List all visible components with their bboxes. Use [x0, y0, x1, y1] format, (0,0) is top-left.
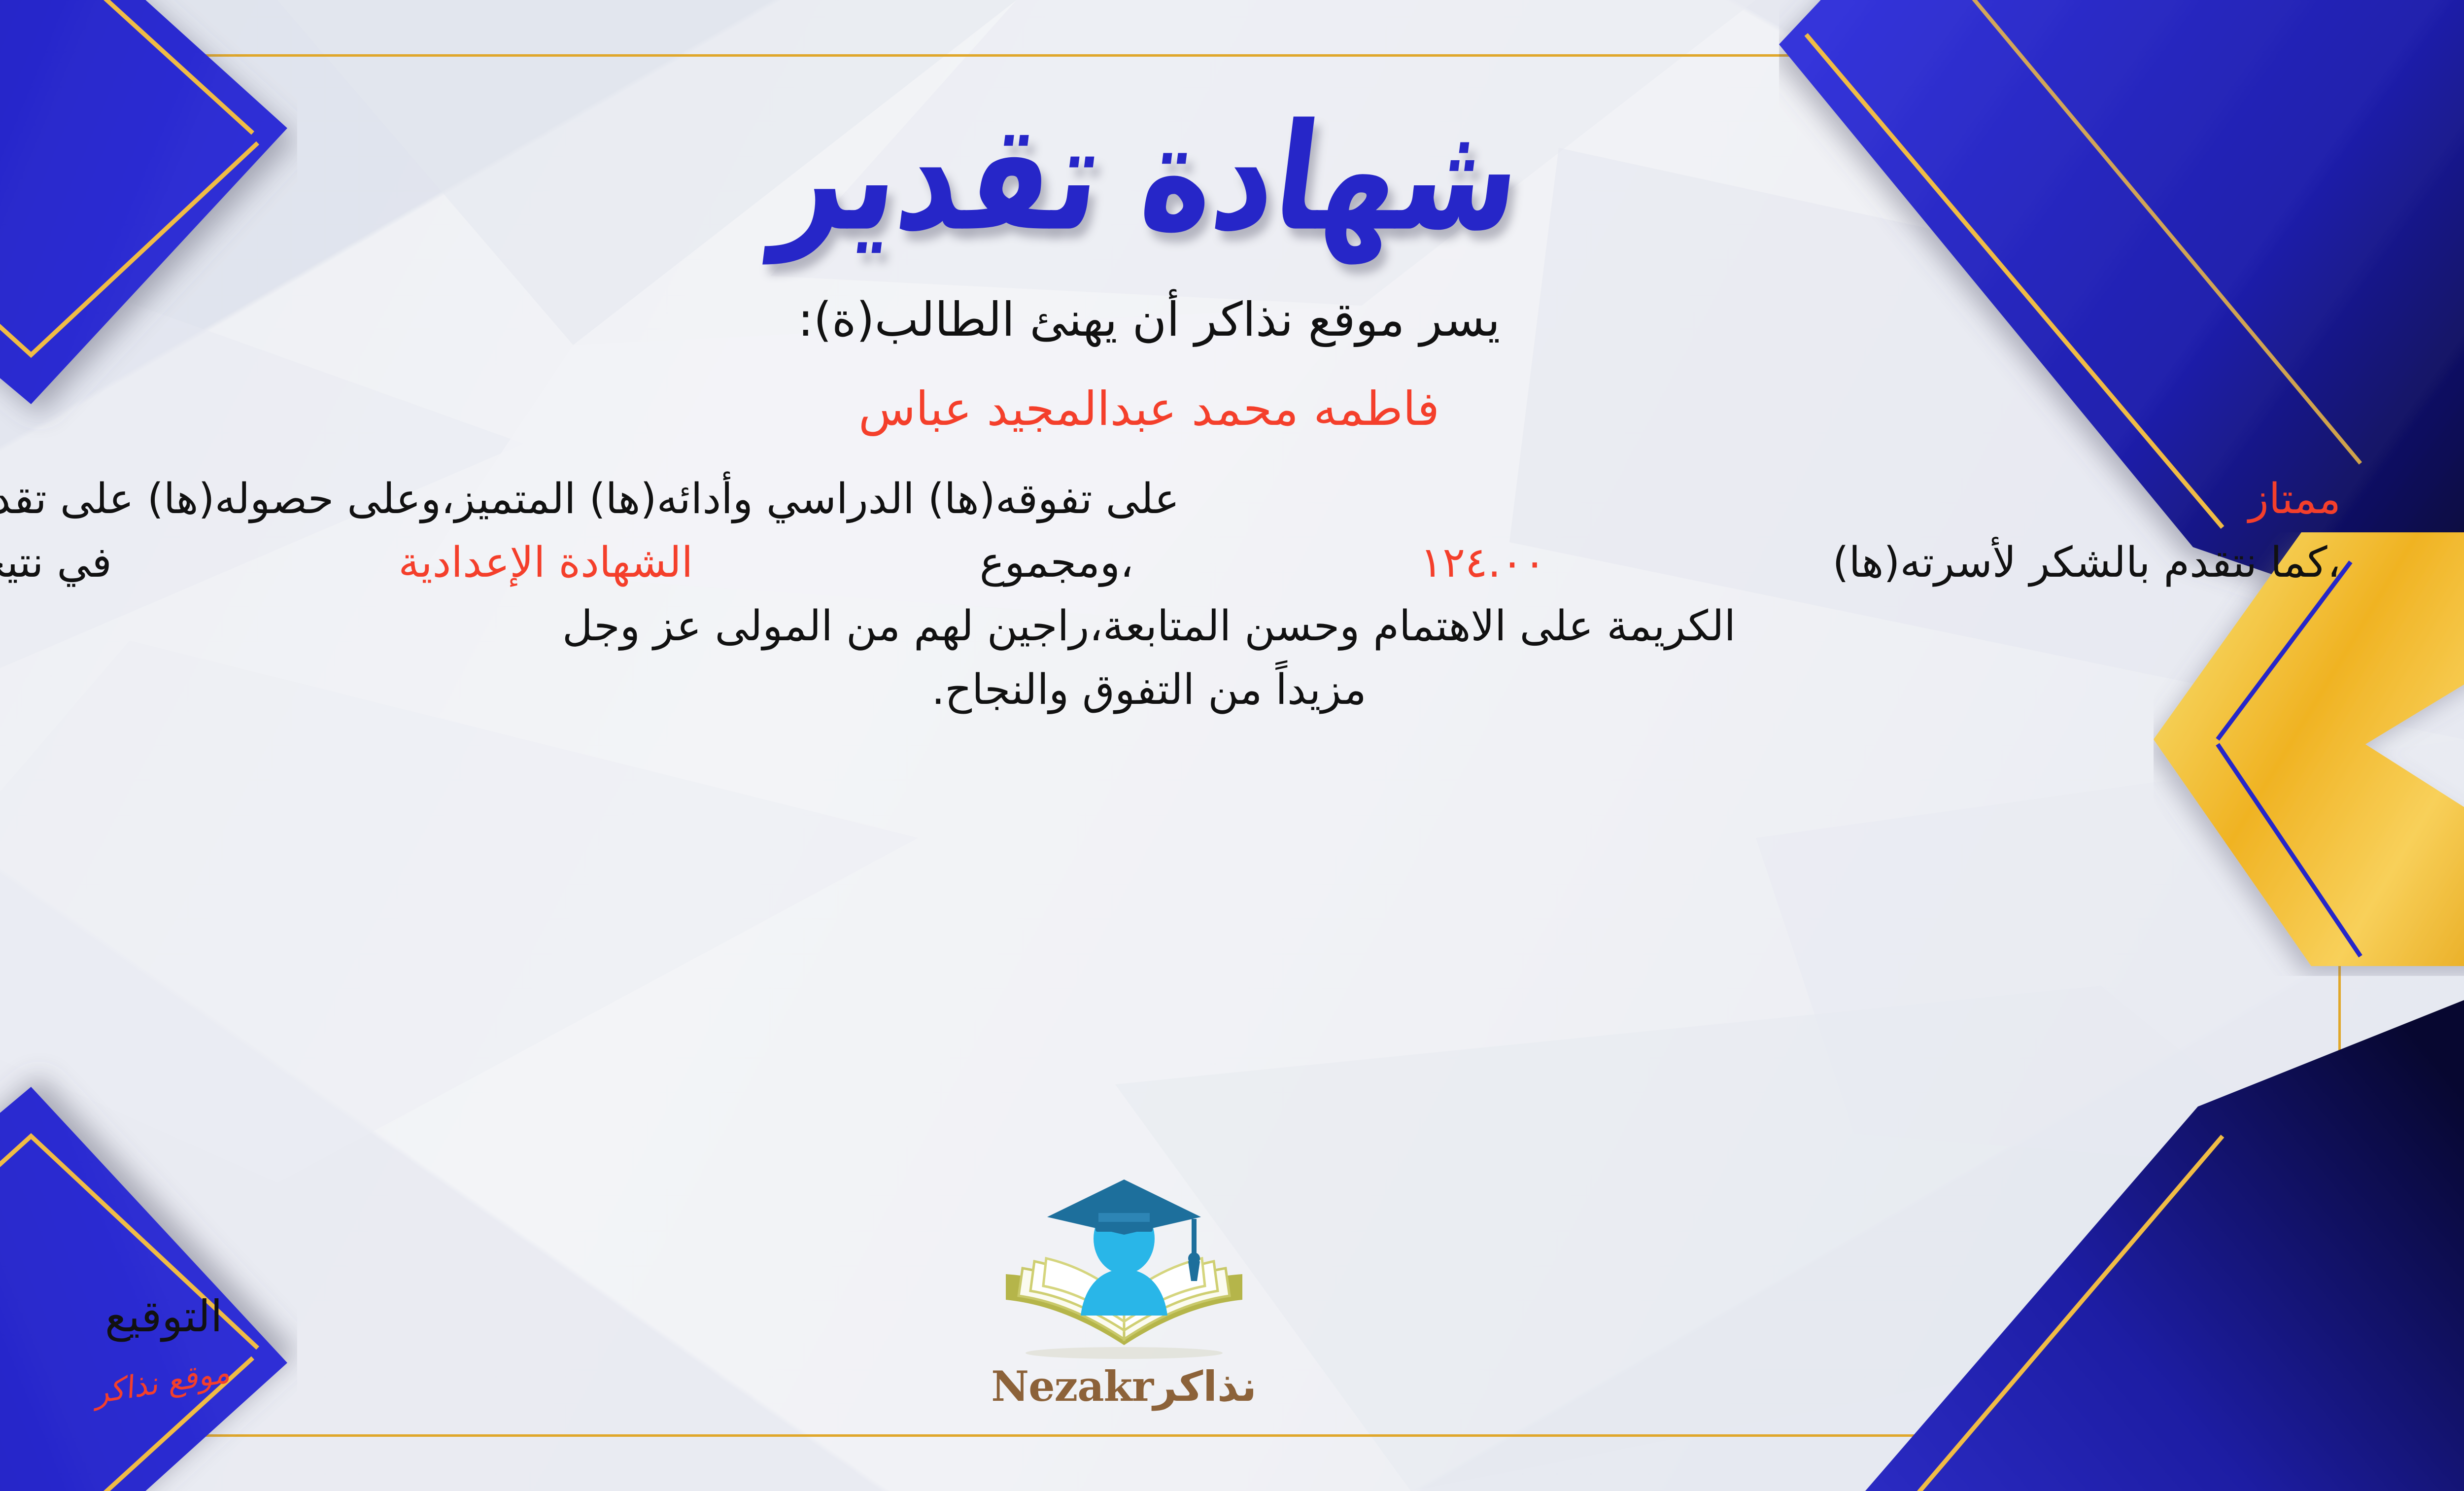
certificate-title: شهادة تقدير	[0, 74, 2341, 281]
greeting-line: يسر موقع نذاكر أن يهنئ الطالب(ة):	[798, 291, 1500, 349]
body-line-2-suffix: ،كما نتقدم بالشكر لأسرته(ها)	[1832, 531, 2341, 594]
certificate-title-text: شهادة تقدير	[769, 104, 1529, 251]
logo-wordmark: نذاكرNezakr	[991, 1366, 1257, 1407]
graduate-book-logo-icon	[971, 1172, 1277, 1369]
logo-wordmark-latin: Nezakr	[991, 1362, 1153, 1411]
logo-wordmark-arabic: نذاكر	[1153, 1362, 1257, 1411]
certificate-page: شهادة تقدير يسر موقع نذاكر أن يهنئ الطال…	[0, 0, 2464, 1491]
total-score-label: ،ومجموع	[980, 531, 1134, 594]
certificate-body: ممتاز على تفوقه(ها) الدراسي وأدائه(ها) ا…	[0, 467, 2341, 722]
body-line-2-prefix: في نتيجة	[0, 531, 112, 594]
total-score-value: ١٢٤.٠٠	[1420, 531, 1546, 594]
certificate-content: شهادة تقدير يسر موقع نذاكر أن يهنئ الطال…	[0, 54, 2341, 1437]
body-line-2: ،كما نتقدم بالشكر لأسرته(ها) ١٢٤.٠٠ ،ومج…	[0, 531, 2341, 594]
body-line-1: ممتاز على تفوقه(ها) الدراسي وأدائه(ها) ا…	[0, 467, 2341, 531]
certificate-footer: نذاكرNezakr التوقيع موقع نذاكر	[0, 750, 2341, 1437]
body-line-4: مزيداً من التفوق والنجاح.	[0, 658, 2341, 722]
site-logo: نذاكرNezakr	[971, 1172, 1277, 1437]
grade-value: ممتاز	[2249, 467, 2341, 531]
body-line-3: الكريمة على الاهتمام وحسن المتابعة،راجين…	[0, 594, 2341, 658]
signature-mark: موقع نذاكر	[95, 1356, 232, 1409]
exam-name: الشهادة الإعدادية	[398, 531, 693, 594]
body-line-1-text: على تفوقه(ها) الدراسي وأدائه(ها) المتميز…	[0, 467, 1179, 531]
signature-block: التوقيع موقع نذاكر	[95, 1295, 232, 1437]
signature-label: التوقيع	[105, 1295, 223, 1338]
student-name: فاطمه محمد عبدالمجيد عباس	[858, 380, 1439, 439]
